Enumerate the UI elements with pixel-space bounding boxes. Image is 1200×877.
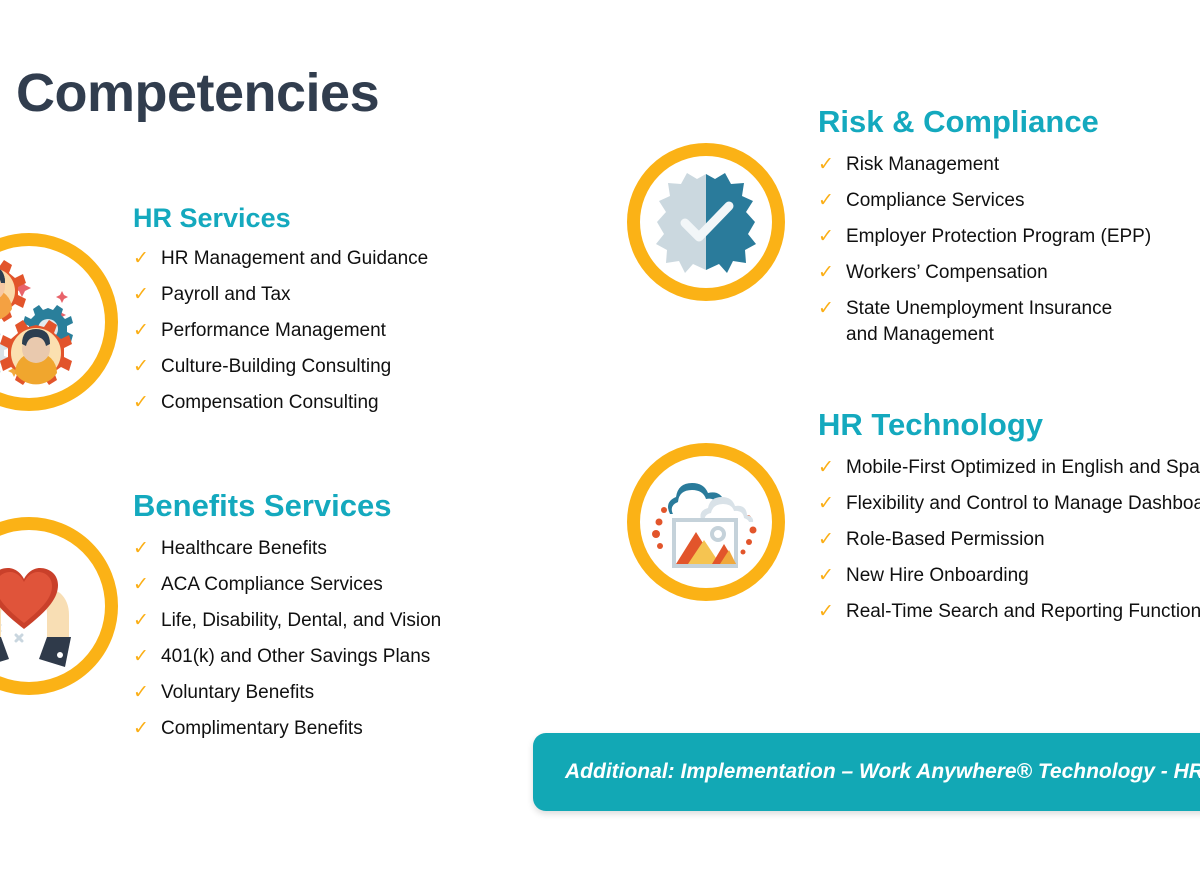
slide-canvas: Competencies — [0, 0, 1200, 877]
list-item-label: State Unemployment Insurance and Managem… — [846, 296, 1148, 348]
check-icon: ✓ — [818, 296, 840, 322]
list-item-label: Real-Time Search and Reporting Functiona… — [846, 599, 1200, 625]
check-icon: ✓ — [133, 716, 155, 742]
check-icon: ✓ — [133, 644, 155, 670]
people-gears-icon — [0, 233, 118, 411]
hands-heart-icon — [0, 517, 118, 695]
list-item: ✓ Culture-Building Consulting — [133, 354, 533, 380]
additional-services-banner: Additional: Implementation – Work Anywhe… — [533, 733, 1200, 811]
section-risk-compliance: Risk & Compliance ✓ Risk Management ✓ Co… — [818, 104, 1200, 358]
list-item-label: Performance Management — [161, 318, 386, 344]
check-icon: ✓ — [818, 527, 840, 553]
list-item-label: Risk Management — [846, 152, 999, 178]
check-icon: ✓ — [133, 246, 155, 272]
list-item: ✓ Life, Disability, Dental, and Vision — [133, 608, 533, 634]
check-icon: ✓ — [818, 491, 840, 517]
check-icon: ✓ — [133, 390, 155, 416]
list-item: ✓ Compensation Consulting — [133, 390, 533, 416]
section-heading-hr-services: HR Services — [133, 203, 533, 234]
list-item: ✓ Compliance Services — [818, 188, 1200, 214]
list-item: ✓ Role-Based Permission — [818, 527, 1200, 553]
list-item-label: Complimentary Benefits — [161, 716, 363, 742]
list-item: ✓ Voluntary Benefits — [133, 680, 533, 706]
check-icon: ✓ — [133, 354, 155, 380]
list-item: ✓ Risk Management — [818, 152, 1200, 178]
list-item-label: Mobile-First Optimized in English and Sp… — [846, 455, 1200, 481]
list-item-label: 401(k) and Other Savings Plans — [161, 644, 430, 670]
list-item: ✓ Real-Time Search and Reporting Functio… — [818, 599, 1200, 625]
check-icon: ✓ — [133, 536, 155, 562]
section-benefits-services: Benefits Services ✓ Healthcare Benefits … — [133, 488, 533, 752]
check-icon: ✓ — [818, 455, 840, 481]
list-item-label: Culture-Building Consulting — [161, 354, 391, 380]
list-item-label: Payroll and Tax — [161, 282, 291, 308]
bullet-list-hr-services: ✓ HR Management and Guidance ✓ Payroll a… — [133, 246, 533, 416]
check-icon: ✓ — [818, 260, 840, 286]
cloud-photo-icon — [627, 443, 785, 601]
list-item: ✓ Complimentary Benefits — [133, 716, 533, 742]
list-item-label: New Hire Onboarding — [846, 563, 1029, 589]
bullet-list-hr-technology: ✓ Mobile-First Optimized in English and … — [818, 455, 1200, 625]
check-icon: ✓ — [133, 282, 155, 308]
check-icon: ✓ — [133, 608, 155, 634]
check-icon: ✓ — [133, 318, 155, 344]
section-heading-risk-compliance: Risk & Compliance — [818, 104, 1200, 140]
list-item: ✓ Workers’ Compensation — [818, 260, 1200, 286]
list-item: ✓ State Unemployment Insurance and Manag… — [818, 296, 1148, 348]
list-item: ✓ Mobile-First Optimized in English and … — [818, 455, 1200, 481]
list-item-label: Compensation Consulting — [161, 390, 379, 416]
list-item-label: Role-Based Permission — [846, 527, 1045, 553]
check-icon: ✓ — [133, 572, 155, 598]
list-item: ✓ ACA Compliance Services — [133, 572, 533, 598]
list-item-label: Employer Protection Program (EPP) — [846, 224, 1151, 250]
list-item: ✓ Performance Management — [133, 318, 533, 344]
list-item-label: HR Management and Guidance — [161, 246, 428, 272]
list-item: ✓ 401(k) and Other Savings Plans — [133, 644, 533, 670]
section-hr-technology: HR Technology ✓ Mobile-First Optimized i… — [818, 407, 1200, 635]
section-heading-benefits-services: Benefits Services — [133, 488, 533, 524]
check-icon: ✓ — [818, 563, 840, 589]
list-item: ✓ Flexibility and Control to Manage Dash… — [818, 491, 1200, 517]
shield-badge-check-icon — [627, 143, 785, 301]
list-item: ✓ Employer Protection Program (EPP) — [818, 224, 1200, 250]
list-item-label: Life, Disability, Dental, and Vision — [161, 608, 441, 634]
bullet-list-benefits-services: ✓ Healthcare Benefits ✓ ACA Compliance S… — [133, 536, 533, 742]
list-item-label: Healthcare Benefits — [161, 536, 327, 562]
list-item-label: Compliance Services — [846, 188, 1024, 214]
list-item: ✓ HR Management and Guidance — [133, 246, 533, 272]
list-item: ✓ Payroll and Tax — [133, 282, 533, 308]
bullet-list-risk-compliance: ✓ Risk Management ✓ Compliance Services … — [818, 152, 1200, 348]
list-item-label: ACA Compliance Services — [161, 572, 383, 598]
check-icon: ✓ — [818, 224, 840, 250]
page-title: Competencies — [16, 62, 379, 124]
check-icon: ✓ — [818, 599, 840, 625]
list-item: ✓ Healthcare Benefits — [133, 536, 533, 562]
list-item-label: Voluntary Benefits — [161, 680, 314, 706]
section-heading-hr-technology: HR Technology — [818, 407, 1200, 443]
banner-label: Additional: Implementation – Work Anywhe… — [533, 760, 1200, 784]
list-item-label: Flexibility and Control to Manage Dashbo… — [846, 491, 1200, 517]
check-icon: ✓ — [133, 680, 155, 706]
list-item: ✓ New Hire Onboarding — [818, 563, 1200, 589]
check-icon: ✓ — [818, 188, 840, 214]
list-item-label: Workers’ Compensation — [846, 260, 1048, 286]
check-icon: ✓ — [818, 152, 840, 178]
section-hr-services: HR Services ✓ HR Management and Guidance… — [133, 203, 533, 426]
